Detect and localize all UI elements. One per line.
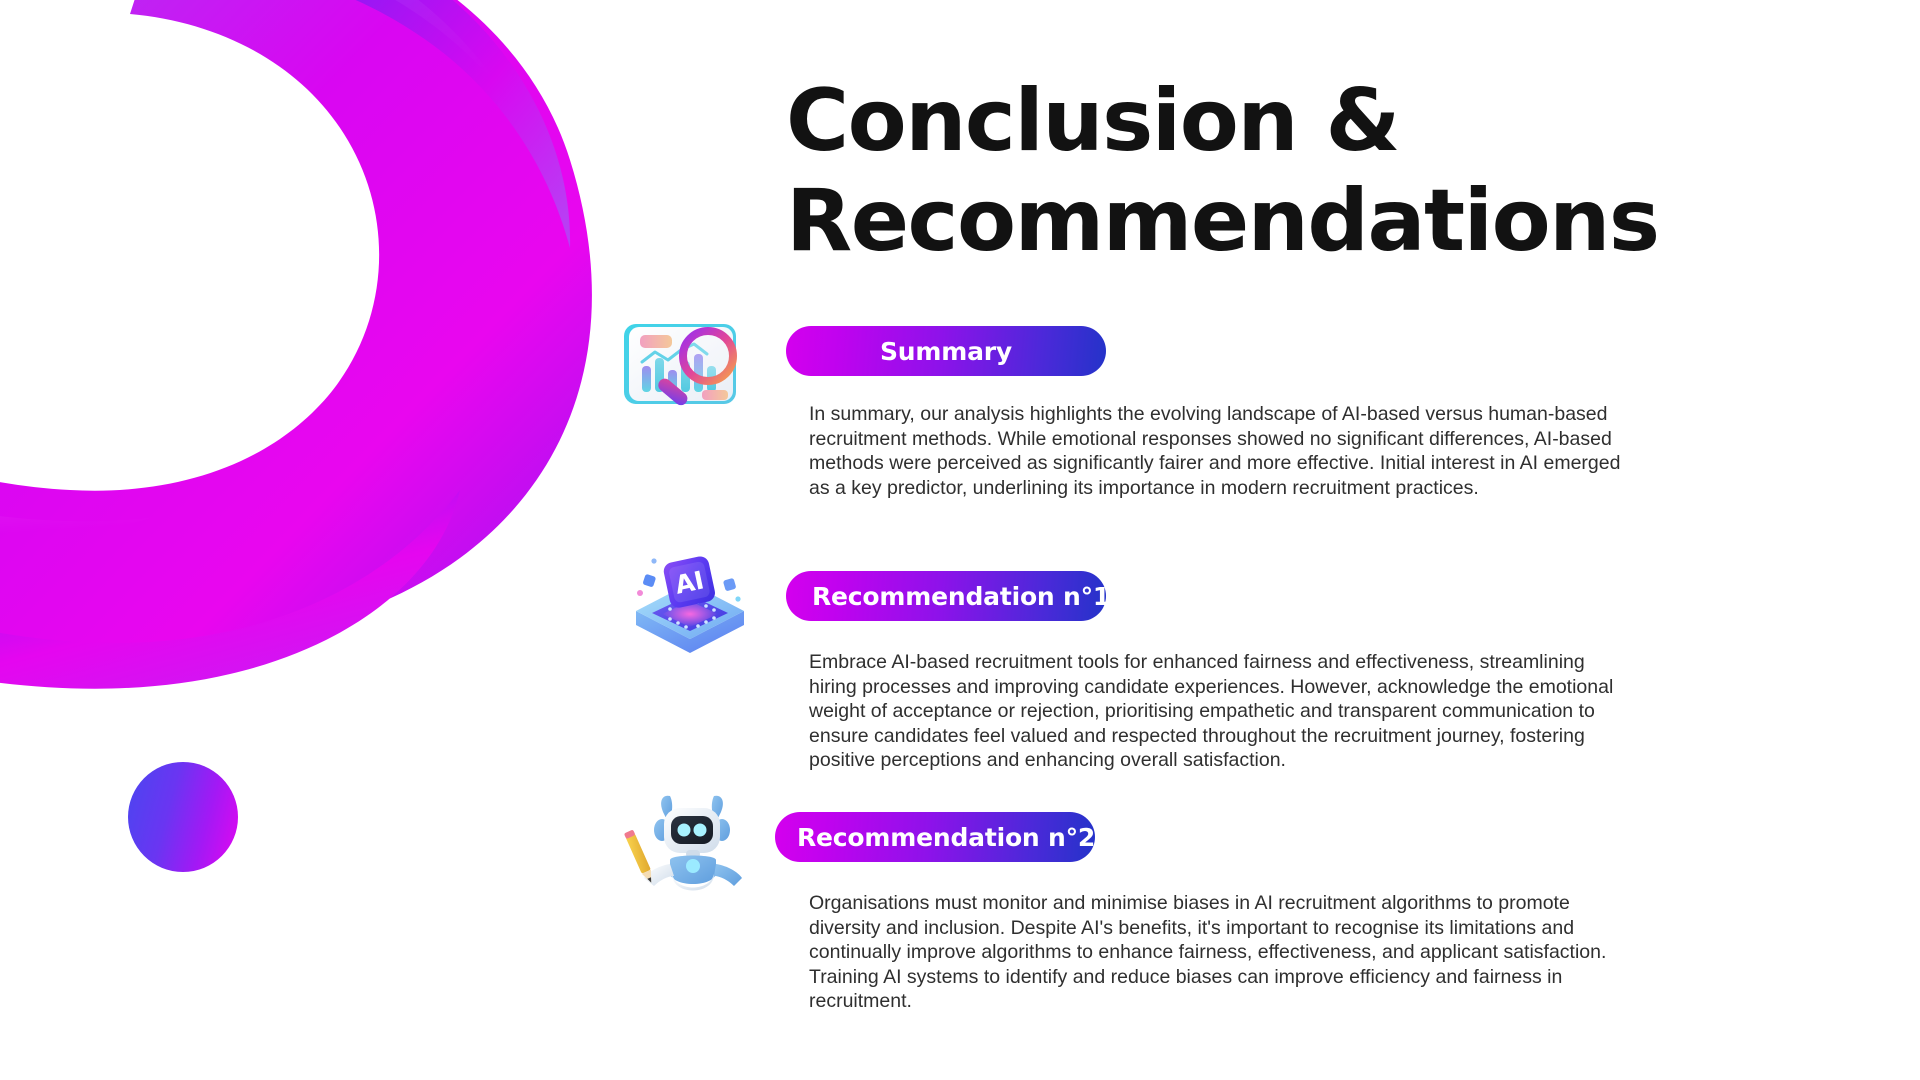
- badge-recommendation-2[interactable]: Recommendation n°2: [775, 812, 1095, 862]
- summary-body-text: In summary, our analysis highlights the …: [809, 402, 1629, 500]
- slide-canvas: Conclusion & Recommendations: [0, 0, 1920, 1080]
- badge-summary[interactable]: Summary: [786, 326, 1106, 376]
- chart-magnifier-analysis-icon: [618, 314, 758, 426]
- slide-title: Conclusion & Recommendations: [786, 78, 1796, 264]
- robot-with-pencil-icon: [624, 794, 764, 906]
- badge-recommendation-1-label: Recommendation n°1: [812, 582, 1110, 611]
- title-line-1: Conclusion &: [786, 78, 1796, 164]
- recommendation-1-body-text: Embrace AI-based recruitment tools for e…: [809, 650, 1629, 773]
- badge-summary-label: Summary: [880, 337, 1012, 366]
- ai-chip-processor-icon: AI: [620, 553, 760, 665]
- badge-recommendation-1[interactable]: Recommendation n°1: [786, 571, 1106, 621]
- page-title: Conclusion & Recommendations: [786, 78, 1796, 264]
- badge-recommendation-2-label: Recommendation n°2: [797, 823, 1095, 852]
- purple-3d-ribbon-swoosh: [0, 0, 680, 730]
- title-line-2: Recommendations: [786, 178, 1796, 264]
- svg-text:AI: AI: [672, 565, 706, 599]
- gradient-circle-accent: [128, 762, 238, 872]
- recommendation-2-body-text: Organisations must monitor and minimise …: [809, 891, 1629, 1014]
